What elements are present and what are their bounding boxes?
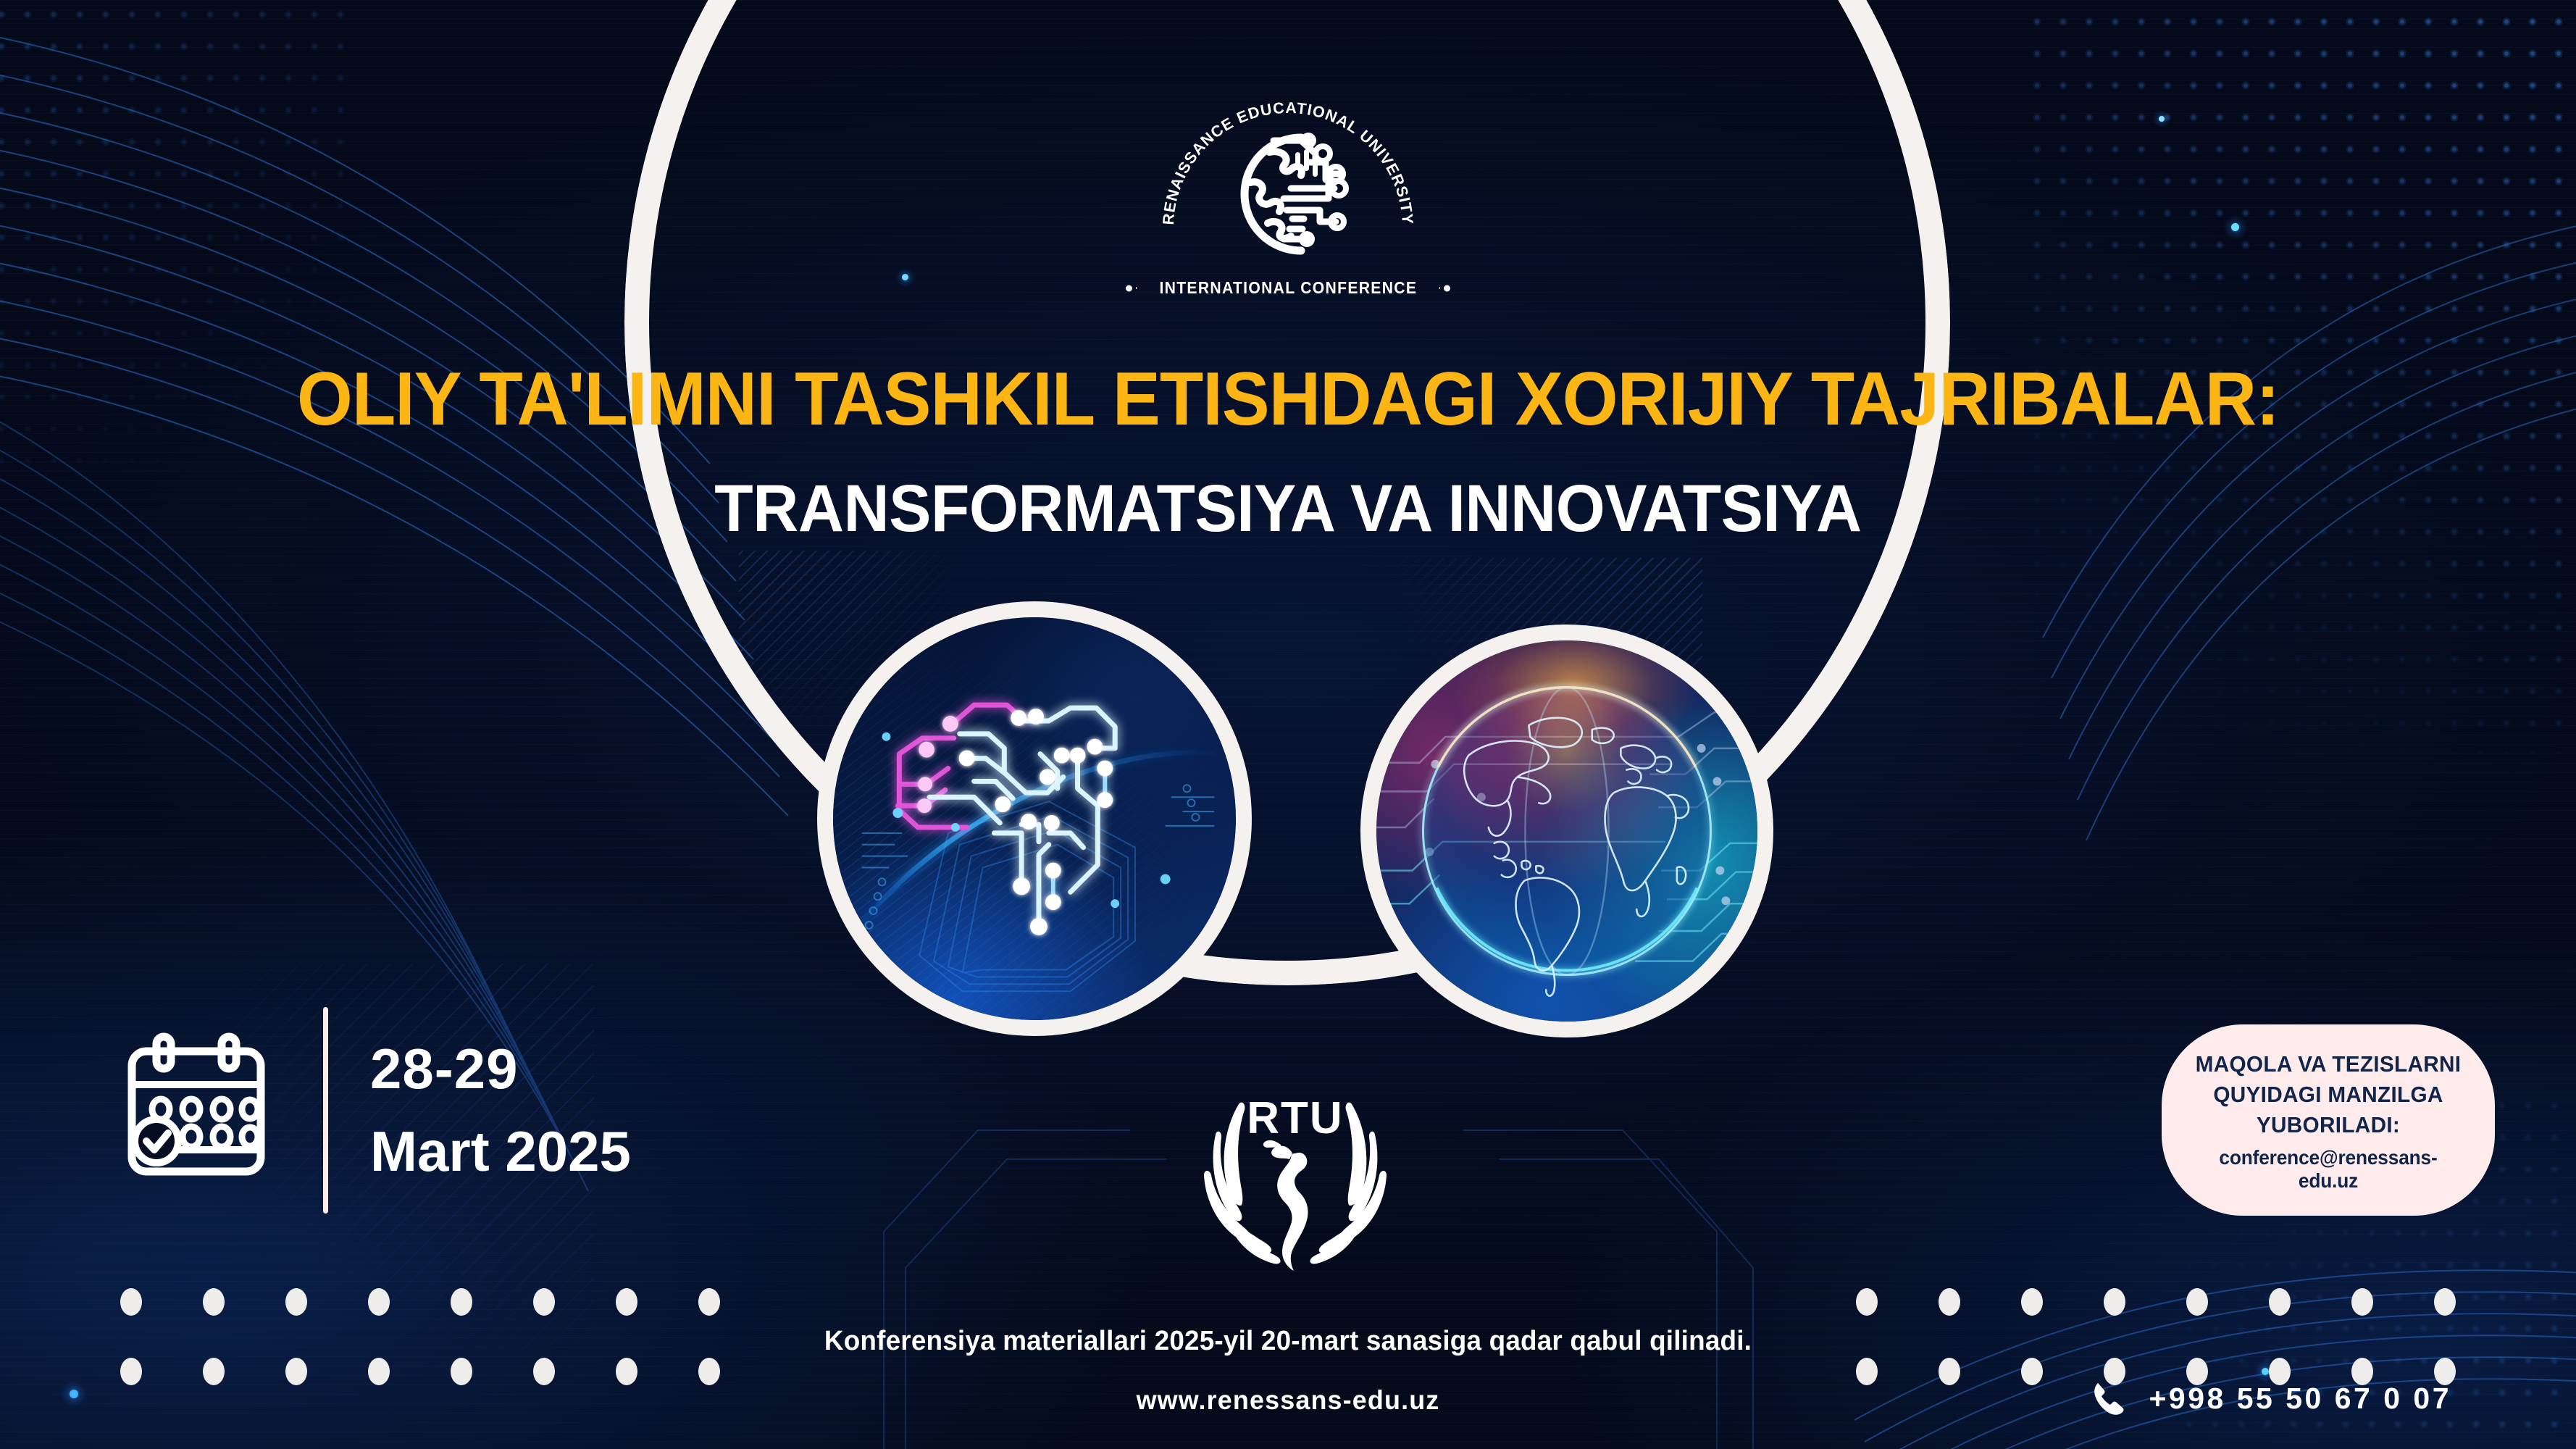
- phone-number: +998 55 50 67 0 07: [2149, 1382, 2451, 1416]
- conference-label-row: INTERNATIONAL CONFERENCE: [1136, 278, 1440, 298]
- phone-icon: [2092, 1380, 2127, 1416]
- calendar-check-icon: [116, 1032, 283, 1188]
- poster-title: OLIY TA'LIMNI TASHKIL ETISHDAGI XORIJIY …: [64, 356, 2512, 443]
- poster-subtitle: TRANSFORMATSIYA VA INNOVATSIYA: [64, 471, 2512, 547]
- rule-left: [1136, 287, 1137, 289]
- rtu-logo: RTU: [1194, 1078, 1397, 1274]
- submission-email[interactable]: conference@renessans-edu.uz: [2195, 1146, 2462, 1193]
- date-text: 28-29 Mart 2025: [370, 1028, 631, 1193]
- conference-label: INTERNATIONAL CONFERENCE: [1159, 278, 1417, 298]
- conference-poster: RENAISSANCE EDUCATIONAL UNIVERSITY: [0, 0, 2576, 1449]
- glow-spark: [2231, 223, 2239, 231]
- date-month-year: Mart 2025: [370, 1111, 631, 1193]
- globe-circuit-icon: RENAISSANCE EDUCATIONAL UNIVERSITY: [1136, 85, 1440, 288]
- date-days: 28-29: [370, 1028, 631, 1111]
- rule-right: [1439, 287, 1440, 289]
- badge-line-1: MAQOLA VA TEZISLARNI: [2192, 1049, 2464, 1080]
- submission-address-badge: MAQOLA VA TEZISLARNI QUYIDAGI MANZILGA Y…: [2162, 1024, 2495, 1216]
- date-divider: [323, 1007, 328, 1214]
- badge-line-2: QUYIDAGI MANZILGA: [2192, 1080, 2464, 1110]
- circuit-brain-icon: [833, 617, 1236, 1020]
- badge-line-3: YUBORILADI:: [2192, 1110, 2464, 1140]
- digital-globe-circle: [1360, 625, 1773, 1037]
- event-date-block: 28-29 Mart 2025: [116, 1007, 631, 1214]
- rtu-abbreviation: RTU: [1247, 1093, 1343, 1143]
- deadline-note: Konferensiya materiallari 2025-yil 20-ma…: [38, 1326, 2537, 1357]
- glow-spark: [2159, 116, 2165, 122]
- university-logo: RENAISSANCE EDUCATIONAL UNIVERSITY: [1136, 85, 1440, 298]
- ai-brain-circle: [817, 601, 1252, 1036]
- contact-phone[interactable]: +998 55 50 67 0 07: [2092, 1380, 2451, 1416]
- globe-icon: [1376, 640, 1757, 1022]
